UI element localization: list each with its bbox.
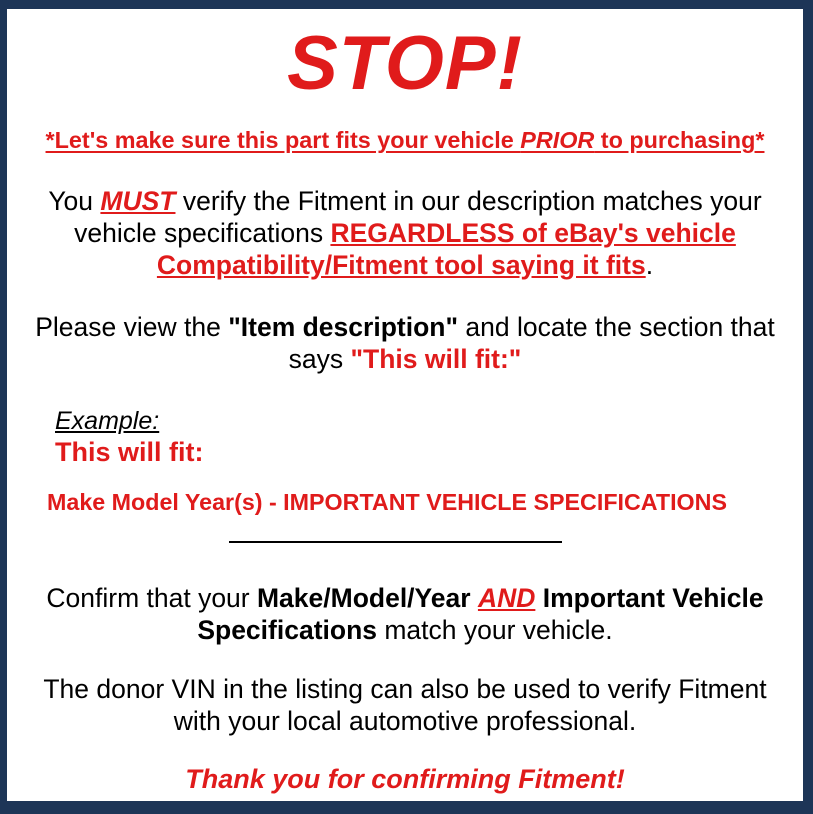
horizontal-divider [229,541,562,543]
p3-part-4: match your vehicle. [377,615,613,645]
example-label: Example: [55,407,803,435]
p3-emphasis-and: AND [478,583,535,613]
notice-body: STOP! *Let's make sure this part fits yo… [7,26,803,814]
subtitle-emphasis-prior: PRIOR [520,127,594,153]
paragraph-confirm-match: Confirm that your Make/Model/Year AND Im… [7,582,803,646]
paragraph-must-verify: You MUST verify the Fitment in our descr… [7,185,803,281]
paragraph-item-description: Please view the "Item description" and l… [7,311,803,375]
p2-emphasis-this-will-fit: "This will fit:" [350,344,521,374]
closing-thank-you: Thank you for confirming Fitment! [7,763,803,795]
subtitle-lead: *Let's make sure this part fits your veh… [46,127,521,153]
p2-part-1: Please view the [35,312,228,342]
p3-emphasis-make-model-year: Make/Model/Year [257,583,471,613]
p3-part-1: Confirm that your [46,583,257,613]
p3-part-3 [535,583,542,613]
example-block: Example: This will fit: Make Model Year(… [7,407,803,515]
example-spec-line: Make Model Year(s) - IMPORTANT VEHICLE S… [47,489,795,515]
subtitle-banner: *Let's make sure this part fits your veh… [9,128,801,154]
p2-emphasis-item-description: "Item description" [228,312,458,342]
p1-emphasis-must: MUST [100,186,175,216]
p3-part-2 [471,583,478,613]
paragraph-donor-vin: The donor VIN in the listing can also be… [7,673,803,737]
divider-wrapper [7,541,803,555]
subtitle-trail: to purchasing* [594,127,764,153]
example-fit-heading: This will fit: [55,437,803,467]
p1-part-3: . [646,250,653,280]
fitment-notice-card: STOP! *Let's make sure this part fits yo… [0,0,813,814]
page-title: STOP! [7,26,803,102]
p1-part-1: You [48,186,100,216]
